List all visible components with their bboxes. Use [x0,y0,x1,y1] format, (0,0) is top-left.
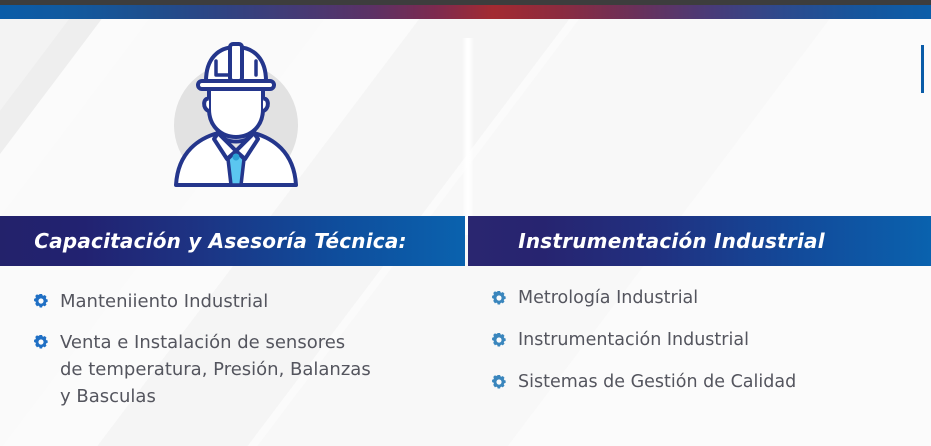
services-banner: Capacitación y Asesoría Técnica: Instrum… [0,0,931,446]
list-item-label: Metrología Industrial [518,285,698,312]
top-gradient-bar [0,5,931,19]
list-item: Manteniiento Industrial [34,288,464,315]
right-accent-line [921,45,924,93]
engineer-hardhat-icon [148,33,328,205]
icon-panel-divider [462,38,474,235]
section-headers: Capacitación y Asesoría Técnica: Instrum… [0,216,931,266]
list-item-label: Manteniiento Industrial [60,288,268,315]
list-item: Metrología Industrial [492,285,922,312]
service-list-instrumentacion: Metrología Industrial Instrumentación In… [492,266,922,411]
header-bar-capacitacion: Capacitación y Asesoría Técnica: [0,216,465,266]
gear-bullet-icon [492,375,506,389]
list-item-label: Sistemas de Gestión de Calidad [518,369,796,396]
header-title-instrumentacion: Instrumentación Industrial [518,229,825,253]
list-item-label: Instrumentación Industrial [518,327,749,354]
list-item-label: Venta e Instalación de sensores de tempe… [60,329,371,410]
header-title-capacitacion: Capacitación y Asesoría Técnica: [34,229,407,253]
gear-bullet-icon [34,294,48,308]
icon-row [0,19,931,216]
gear-bullet-icon [492,291,506,305]
list-item: Instrumentación Industrial [492,327,922,354]
header-bar-instrumentacion: Instrumentación Industrial [468,216,931,266]
icon-panel-capacitacion [0,19,466,216]
service-list-capacitacion: Manteniiento Industrial Venta e Instalac… [34,266,464,424]
list-item: Sistemas de Gestión de Calidad [492,369,922,396]
icon-panel-instrumentacion [468,19,931,216]
gear-bullet-icon [34,335,48,349]
list-item: Venta e Instalación de sensores de tempe… [34,329,464,410]
service-lists: Manteniiento Industrial Venta e Instalac… [0,266,931,446]
gear-bullet-icon [492,333,506,347]
